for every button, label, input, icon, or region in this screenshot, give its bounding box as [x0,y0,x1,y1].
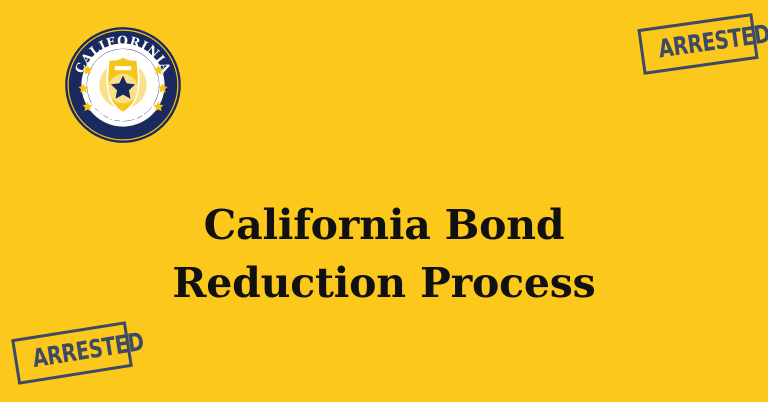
arrested-stamp-top-right: ARRESTED [637,13,758,75]
featured-image-banner: CALIFORINIA ARRESTS ARRESTED ARRESTED Ca… [0,0,768,402]
title-block: California Bond Reduction Process [0,196,768,312]
arrested-stamp-label: ARRESTED [31,334,113,371]
shield-top-bar [115,66,132,70]
california-arrests-logo[interactable]: CALIFORINIA ARRESTS [64,26,182,144]
page-title: California Bond Reduction Process [124,196,644,312]
arrested-stamp-label: ARRESTED [657,26,739,62]
arrested-stamp-bottom-left: ARRESTED [11,321,133,385]
